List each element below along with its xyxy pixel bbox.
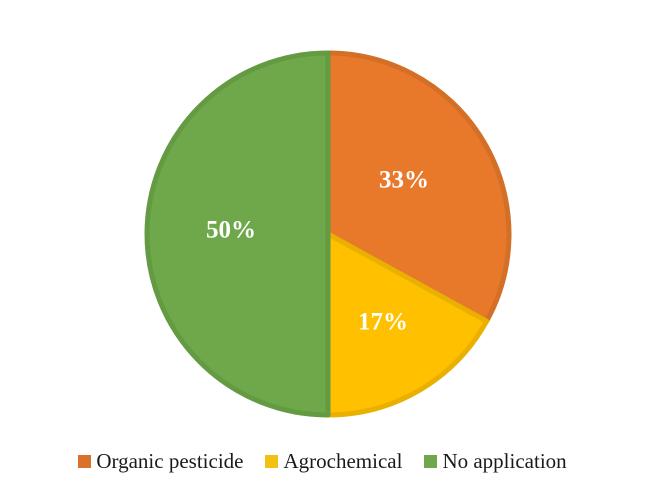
legend-label-organic-pesticide: Organic pesticide xyxy=(96,451,243,472)
pie-chart-plot-area: 33% 17% 50% xyxy=(0,0,645,430)
pie-chart-figure: 33% 17% 50% Organic pesticide Agrochemic… xyxy=(0,0,645,489)
pie-slice-label-no-application: 50% xyxy=(206,217,256,244)
legend-label-agrochemical: Agrochemical xyxy=(283,451,402,472)
pie-slice-label-agrochemical: 17% xyxy=(358,309,408,336)
legend-item-organic-pesticide[interactable]: Organic pesticide xyxy=(78,451,243,472)
pie-slice-label-organic-pesticide: 33% xyxy=(379,167,429,194)
legend-label-no-application: No application xyxy=(442,451,566,472)
chart-legend: Organic pesticide Agrochemical No applic… xyxy=(0,433,645,489)
pie-chart-svg: 33% 17% 50% xyxy=(0,0,645,430)
legend-swatch-icon-no-application xyxy=(424,455,437,468)
legend-item-no-application[interactable]: No application xyxy=(424,451,566,472)
legend-swatch-icon-agrochemical xyxy=(265,455,278,468)
legend-swatch-icon-organic-pesticide xyxy=(78,455,91,468)
legend-item-agrochemical[interactable]: Agrochemical xyxy=(265,451,402,472)
